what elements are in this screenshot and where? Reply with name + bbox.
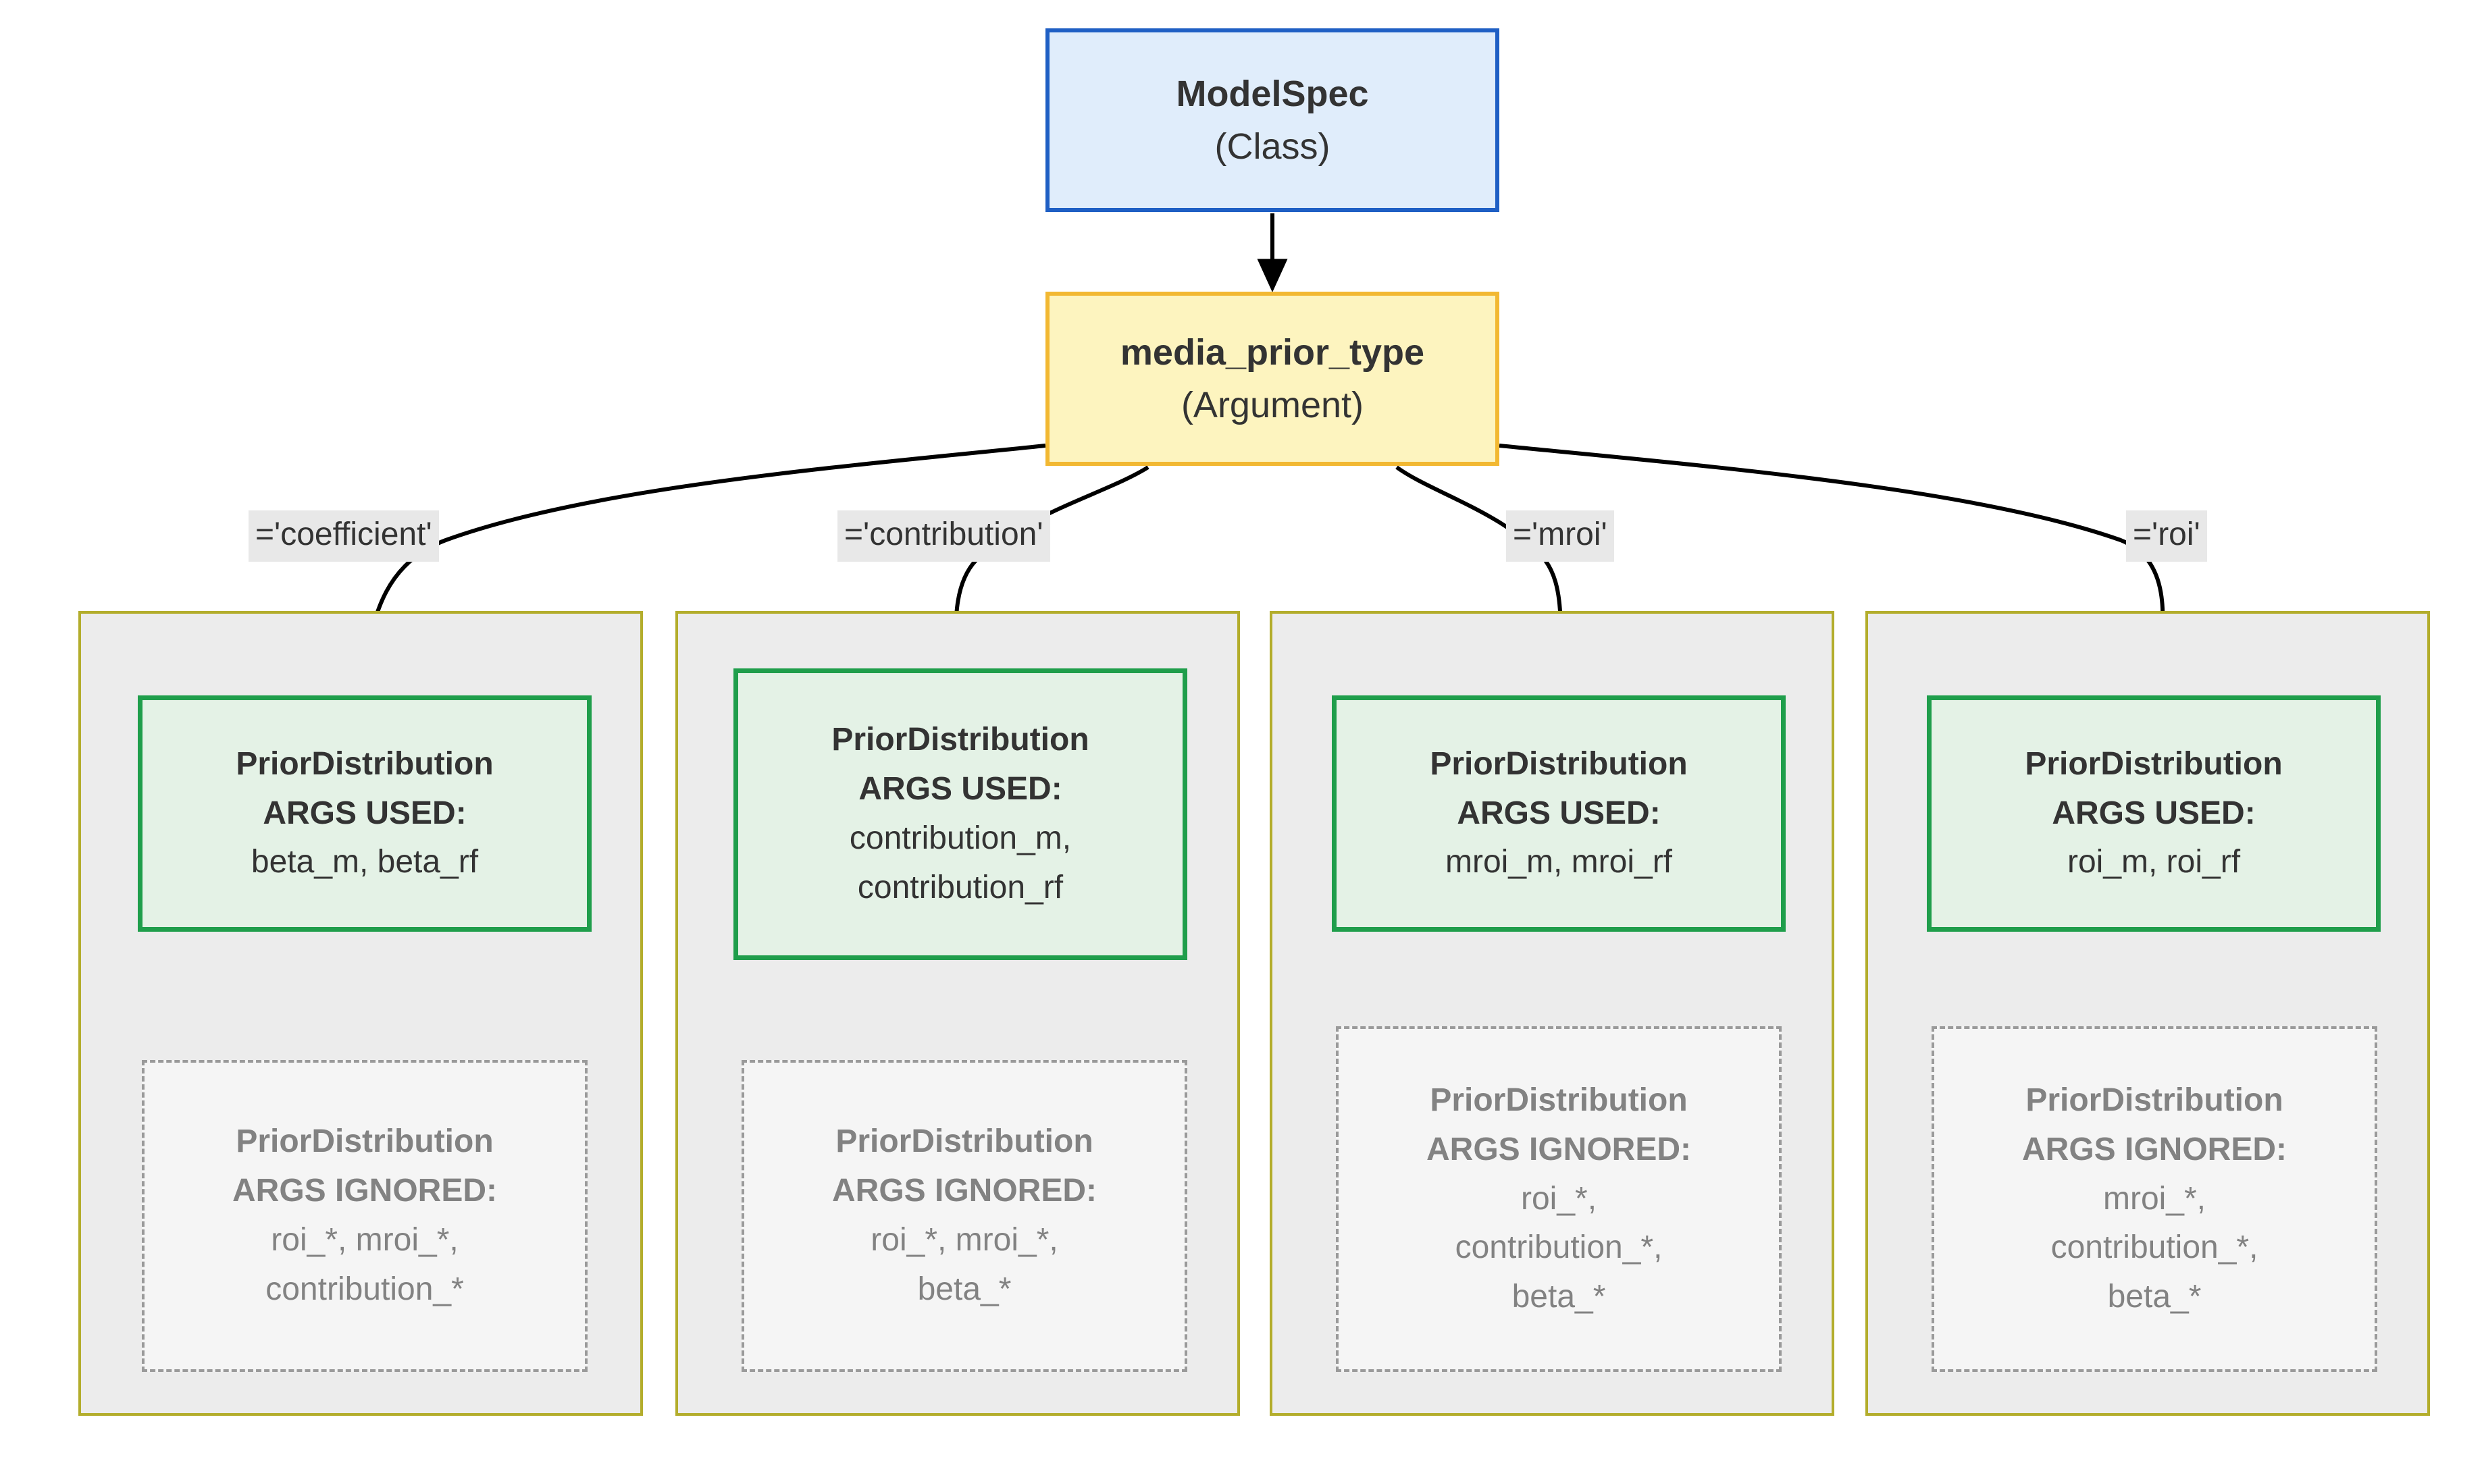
ignored-box-subheading: ARGS IGNORED: <box>2022 1125 2287 1175</box>
ignored-box-coefficient[interactable]: PriorDistribution ARGS IGNORED: roi_*, m… <box>142 1060 588 1372</box>
media-prior-type-subtitle: (Argument) <box>1181 379 1364 431</box>
used-box-heading: PriorDistribution <box>2025 740 2282 789</box>
used-box-coefficient[interactable]: PriorDistribution ARGS USED: beta_m, bet… <box>138 695 592 932</box>
ignored-box-heading: PriorDistribution <box>835 1117 1093 1167</box>
edge-label-roi: ='roi' <box>2126 510 2207 562</box>
used-box-heading: PriorDistribution <box>831 716 1089 765</box>
used-box-mroi[interactable]: PriorDistribution ARGS USED: mroi_m, mro… <box>1332 695 1786 932</box>
node-modelspec[interactable]: ModelSpec (Class) <box>1045 28 1499 212</box>
used-box-subheading: ARGS USED: <box>263 789 466 839</box>
media-prior-type-title: media_prior_type <box>1120 326 1424 379</box>
used-box-roi[interactable]: PriorDistribution ARGS USED: roi_m, roi_… <box>1927 695 2381 932</box>
ignored-box-heading: PriorDistribution <box>236 1117 493 1167</box>
diagram-canvas: ModelSpec (Class) media_prior_type (Argu… <box>0 0 2484 1484</box>
used-box-heading: PriorDistribution <box>1430 740 1687 789</box>
used-box-subheading: ARGS USED: <box>2052 789 2255 839</box>
modelspec-subtitle: (Class) <box>1215 120 1330 173</box>
ignored-box-args-cont2: beta_* <box>1512 1273 1606 1322</box>
ignored-box-args: roi_*, mroi_*, <box>871 1216 1058 1265</box>
used-box-args: mroi_m, mroi_rf <box>1445 838 1672 887</box>
edge-label-contribution: ='contribution' <box>837 510 1050 562</box>
ignored-box-subheading: ARGS IGNORED: <box>832 1167 1097 1216</box>
used-box-heading: PriorDistribution <box>236 740 493 789</box>
ignored-box-subheading: ARGS IGNORED: <box>232 1167 497 1216</box>
ignored-box-args-cont: beta_* <box>918 1265 1012 1315</box>
ignored-box-contribution[interactable]: PriorDistribution ARGS IGNORED: roi_*, m… <box>742 1060 1187 1372</box>
ignored-box-heading: PriorDistribution <box>2025 1076 2283 1125</box>
ignored-box-args: roi_*, <box>1521 1175 1597 1224</box>
ignored-box-heading: PriorDistribution <box>1430 1076 1687 1125</box>
ignored-box-args: roi_*, mroi_*, <box>271 1216 458 1265</box>
node-media-prior-type[interactable]: media_prior_type (Argument) <box>1045 292 1499 466</box>
ignored-box-args-cont: contribution_*, <box>2051 1223 2258 1273</box>
ignored-box-args: mroi_*, <box>2103 1175 2206 1224</box>
edge-label-mroi: ='mroi' <box>1506 510 1614 562</box>
used-box-args: contribution_m, <box>850 814 1071 864</box>
modelspec-title: ModelSpec <box>1176 68 1368 120</box>
used-box-args: beta_m, beta_rf <box>251 838 478 887</box>
ignored-box-args-cont: contribution_*, <box>1455 1223 1663 1273</box>
used-box-args-cont: contribution_rf <box>858 864 1063 913</box>
ignored-box-subheading: ARGS IGNORED: <box>1426 1125 1691 1175</box>
ignored-box-args-cont: contribution_* <box>265 1265 464 1315</box>
ignored-box-roi[interactable]: PriorDistribution ARGS IGNORED: mroi_*, … <box>1932 1026 2377 1372</box>
used-box-subheading: ARGS USED: <box>858 765 1062 814</box>
ignored-box-args-cont2: beta_* <box>2108 1273 2202 1322</box>
used-box-subheading: ARGS USED: <box>1457 789 1660 839</box>
used-box-args: roi_m, roi_rf <box>2067 838 2240 887</box>
used-box-contribution[interactable]: PriorDistribution ARGS USED: contributio… <box>733 668 1187 960</box>
edge-label-coefficient: ='coefficient' <box>249 510 439 562</box>
ignored-box-mroi[interactable]: PriorDistribution ARGS IGNORED: roi_*, c… <box>1336 1026 1782 1372</box>
